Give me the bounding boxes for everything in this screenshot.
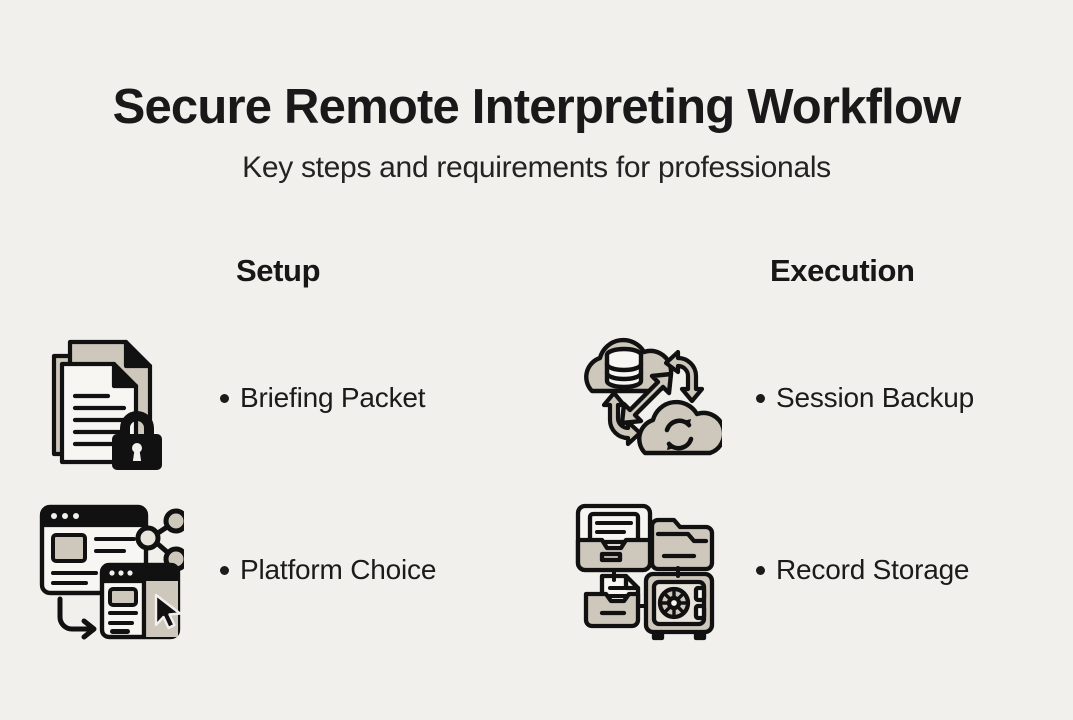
bullet-icon (756, 394, 765, 403)
list-item-label: Platform Choice (240, 554, 436, 586)
list-item[interactable]: Platform Choice (0, 484, 536, 656)
list-item-label-wrapper: Record Storage (756, 554, 969, 586)
list-item-label-wrapper: Platform Choice (220, 554, 436, 586)
bullet-icon (220, 566, 229, 575)
bullet-icon (756, 566, 765, 575)
list-item[interactable]: Briefing Packet (0, 312, 536, 484)
list-item-label: Record Storage (776, 554, 969, 586)
column-execution: Execution (536, 250, 1072, 656)
bullet-icon (220, 394, 229, 403)
list-item-label-wrapper: Session Backup (756, 382, 974, 414)
browser-share-platform-icon (0, 499, 220, 641)
slide-canvas: Secure Remote Interpreting Workflow Key … (0, 0, 1073, 720)
list-item-label: Session Backup (776, 382, 974, 414)
columns-container: Setup (0, 250, 1073, 656)
page-subtitle: Key steps and requirements for professio… (0, 151, 1073, 185)
cloud-backup-sync-icon (536, 329, 756, 467)
execution-items: Session Backup (536, 312, 1072, 656)
list-item-label-wrapper: Briefing Packet (220, 382, 425, 414)
column-heading-setup: Setup (0, 250, 536, 302)
list-item[interactable]: Record Storage (536, 484, 1072, 656)
list-item[interactable]: Session Backup (536, 312, 1072, 484)
file-archive-safe-icon (536, 498, 756, 642)
column-setup: Setup (0, 250, 536, 656)
list-item-label: Briefing Packet (240, 382, 425, 414)
column-heading-execution: Execution (536, 250, 1072, 302)
setup-items: Briefing Packet (0, 312, 536, 656)
page-title: Secure Remote Interpreting Workflow (0, 82, 1073, 133)
header: Secure Remote Interpreting Workflow Key … (0, 82, 1073, 185)
locked-documents-icon (0, 324, 220, 472)
